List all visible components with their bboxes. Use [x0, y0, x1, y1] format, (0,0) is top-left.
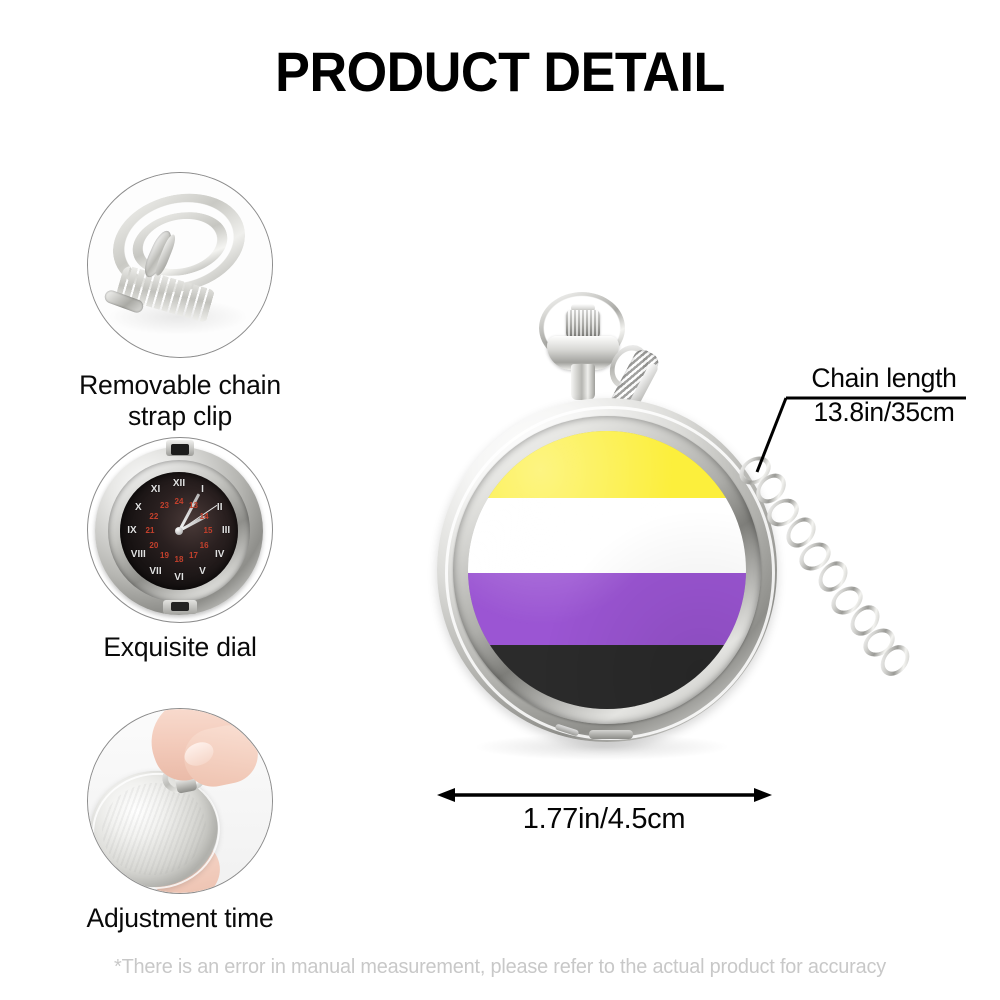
thumbnail-removable-chain-strap-clip: [87, 172, 273, 358]
page-title: PRODUCT DETAIL: [35, 44, 965, 100]
dial-24h-numeral: 16: [200, 542, 209, 550]
dial-roman-numeral: VII: [149, 567, 161, 577]
dial-24h-numeral: 17: [189, 552, 198, 560]
case-bottom-insert: [171, 602, 189, 611]
dial-roman-numeral: XII: [173, 479, 185, 489]
chain-length-annotation: Chain length 13.8in/35cm: [784, 362, 984, 430]
dial-roman-numeral: IX: [127, 526, 136, 536]
chain-photo: [88, 173, 272, 357]
dial-roman-numeral: II: [217, 503, 223, 513]
feature-label-dial: Exquisite dial: [0, 632, 360, 663]
diameter-arrow-head-right: [754, 788, 772, 802]
dial-photo: XIIIIIIIIIVVVIVIIVIIIIXXXI13141516171819…: [88, 438, 272, 622]
dial-24h-numeral: 22: [149, 513, 158, 521]
hand-pin: [175, 527, 183, 535]
dial-24h-numeral: 24: [175, 498, 184, 506]
dial-roman-numeral: I: [201, 485, 204, 495]
feature-label-chain: Removable chain strap clip: [0, 370, 360, 431]
watch-dial: XIIIIIIIIIVVVIVIIVIIIIXXXI13141516171819…: [120, 472, 238, 590]
dial-roman-numeral: IV: [215, 550, 224, 560]
adjustment-photo: [88, 709, 272, 893]
dial-roman-numeral: III: [222, 526, 230, 536]
crown-top-insert: [171, 444, 189, 455]
dial-24h-numeral: 19: [160, 552, 169, 560]
dial-24h-numeral: 18: [175, 556, 184, 564]
feature-adjustment-time: Adjustment time: [0, 708, 360, 934]
feature-removable-chain-strap-clip: Removable chain strap clip: [0, 172, 360, 431]
dial-24h-numeral: 23: [160, 502, 169, 510]
footer-disclaimer: *There is an error in manual measurement…: [15, 955, 985, 979]
dial-24h-numeral: 14: [200, 513, 209, 521]
dial-roman-numeral: VIII: [131, 550, 146, 560]
dial-roman-numeral: XI: [151, 485, 160, 495]
diameter-arrow-head-left: [437, 788, 455, 802]
crown-stem: [571, 364, 595, 400]
dial-24h-numeral: 21: [146, 527, 155, 535]
feature-exquisite-dial: XIIIIIIIIIVVVIVIIVIIIIXXXI13141516171819…: [0, 437, 360, 663]
feature-label-chain-line2: strap clip: [0, 401, 360, 432]
chain-length-value: 13.8in/35cm: [784, 396, 984, 430]
diameter-annotation: 1.77in/4.5cm: [437, 803, 771, 836]
crown-knob: [566, 310, 600, 338]
thumbnail-adjustment-time: [87, 708, 273, 894]
case-hinge: [589, 730, 633, 739]
chain-length-title: Chain length: [784, 362, 984, 396]
dial-roman-numeral: V: [199, 567, 206, 577]
dial-roman-numeral: VI: [174, 573, 183, 583]
feature-label-chain-line1: Removable chain: [0, 370, 360, 401]
dial-24h-numeral: 20: [149, 542, 158, 550]
feature-label-adjustment: Adjustment time: [0, 903, 360, 934]
dial-roman-numeral: X: [135, 503, 142, 513]
dial-24h-numeral: 15: [204, 527, 213, 535]
dial-24h-numeral: 13: [189, 502, 198, 510]
thumbnail-exquisite-dial: XIIIIIIIIIVVVIVIIVIIIIXXXI13141516171819…: [87, 437, 273, 623]
